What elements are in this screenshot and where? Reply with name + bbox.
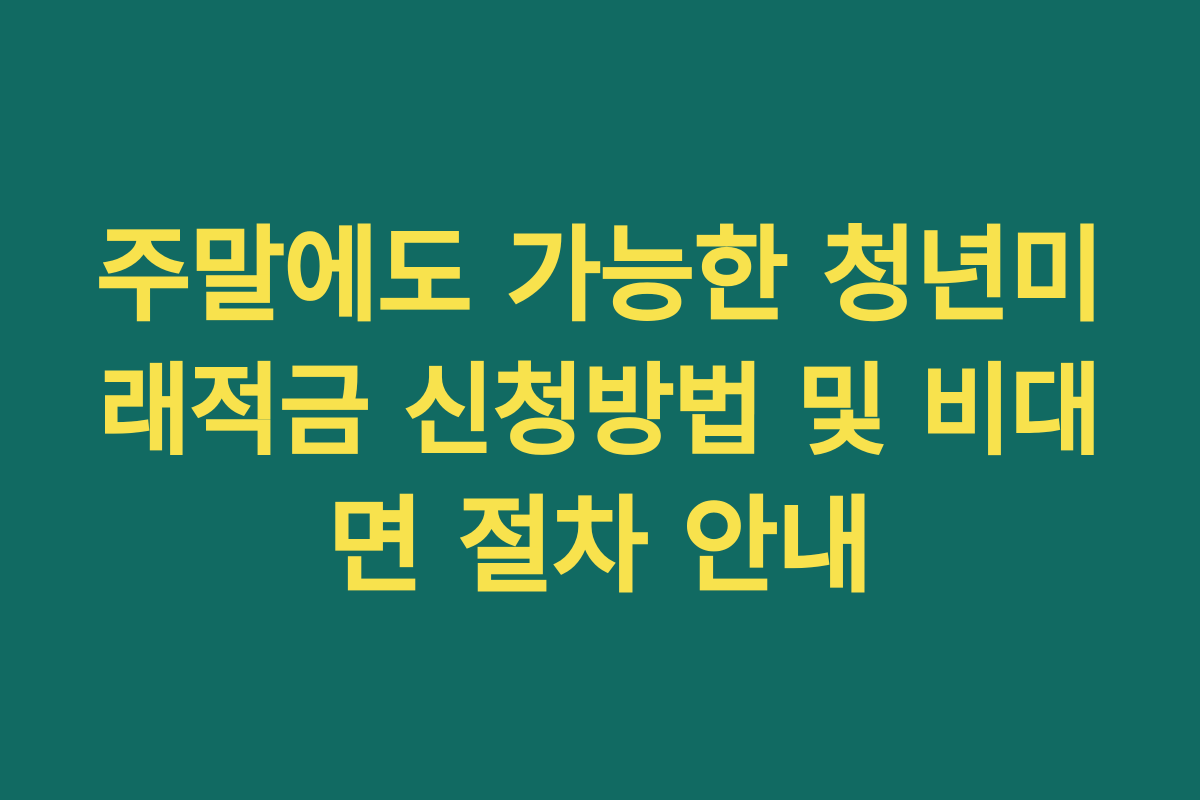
page-title: 주말에도 가능한 청년미 래적금 신청방법 및 비대 면 절차 안내	[95, 209, 1105, 614]
title-line-3: 면 절차 안내	[95, 479, 1105, 614]
title-line-1: 주말에도 가능한 청년미	[95, 209, 1105, 344]
title-line-2: 래적금 신청방법 및 비대	[95, 344, 1105, 479]
thumbnail-canvas: 주말에도 가능한 청년미 래적금 신청방법 및 비대 면 절차 안내	[0, 0, 1200, 800]
